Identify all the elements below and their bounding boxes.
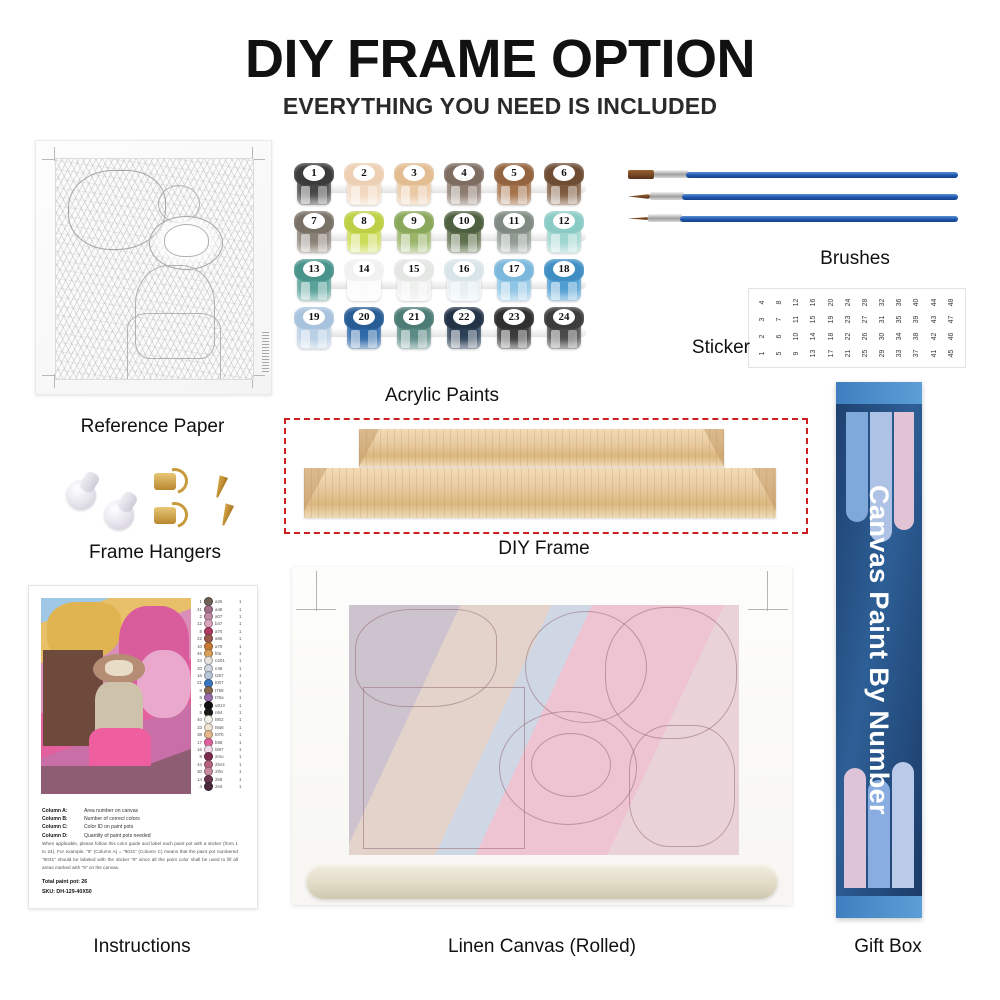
sticker-number: 39 bbox=[909, 311, 926, 328]
legend-quantity: 1 bbox=[239, 621, 245, 626]
paint-pot: 19 bbox=[294, 307, 334, 351]
legend-row: 82mu1 bbox=[191, 753, 249, 760]
paint-pot: 18 bbox=[544, 259, 584, 303]
legend-color-id: 2thv bbox=[215, 769, 237, 774]
legend-color-id: a79 bbox=[215, 644, 237, 649]
sticker-number: 13 bbox=[806, 345, 823, 362]
screw-icon bbox=[219, 503, 234, 527]
legend-area-number: 44 bbox=[191, 762, 202, 767]
legend-row: 24n2011 bbox=[191, 657, 249, 664]
paint-pot-number: 8 bbox=[353, 213, 375, 229]
sticker-number: 38 bbox=[909, 328, 926, 345]
legend-area-number: 17 bbox=[191, 740, 202, 745]
legend-color-id: a26 bbox=[215, 599, 237, 604]
paint-pot-number: 1 bbox=[303, 165, 325, 181]
reference-paper-caption: Reference Paper bbox=[35, 416, 270, 438]
paint-pot: 13 bbox=[294, 259, 334, 303]
legend-row: 20n481 bbox=[191, 665, 249, 672]
legend-quantity: 1 bbox=[239, 607, 245, 612]
sticker-number: 41 bbox=[926, 345, 943, 362]
legend-row: 302thv1 bbox=[191, 768, 249, 775]
diy-frame-caption: DIY Frame bbox=[284, 538, 804, 560]
instructions-sheet: 1a26141a4812a07112b4718a70122a86110a7914… bbox=[28, 585, 258, 909]
sticker-number: 4 bbox=[754, 294, 771, 311]
instructions-sku: SKU: DH-129-40X50 bbox=[42, 889, 92, 895]
sticker-number: 11 bbox=[788, 311, 805, 328]
wall-plug-icon bbox=[104, 500, 134, 530]
paint-pot-strip bbox=[298, 280, 586, 288]
legend-row: 1a261 bbox=[191, 598, 249, 605]
paint-pot: 12 bbox=[544, 211, 584, 255]
legend-color-id: b58 bbox=[215, 740, 237, 745]
instructions-column-line: Column B:Number of correct colors bbox=[42, 816, 242, 822]
paint-pot: 20 bbox=[344, 307, 384, 351]
legend-row: 142b81 bbox=[191, 775, 249, 782]
instructions-artwork bbox=[41, 598, 191, 794]
paint-pot-number: 15 bbox=[403, 261, 425, 277]
gift-box-side bbox=[922, 389, 940, 911]
legend-quantity: 1 bbox=[239, 651, 245, 656]
legend-row: 442bv31 bbox=[191, 761, 249, 768]
legend-area-number: 6 bbox=[191, 695, 202, 700]
sticker-number: 28 bbox=[857, 294, 874, 311]
sticker-number: 6 bbox=[771, 328, 788, 345]
legend-row: 41a481 bbox=[191, 605, 249, 612]
paint-pot: 11 bbox=[494, 211, 534, 255]
sticker-number: 15 bbox=[806, 311, 823, 328]
legend-row: 10a791 bbox=[191, 642, 249, 649]
legend-area-number: 16 bbox=[191, 747, 202, 752]
brush bbox=[628, 214, 958, 223]
brush-ferrule bbox=[654, 170, 688, 178]
sticker-number: 34 bbox=[891, 328, 908, 345]
instructions-column-key-label: Column A: bbox=[42, 808, 84, 814]
sticker-number: 44 bbox=[926, 294, 943, 311]
legend-row: 17b581 bbox=[191, 738, 249, 745]
legend-area-number: 41 bbox=[191, 607, 202, 612]
legend-quantity: 1 bbox=[239, 629, 245, 634]
legend-color-id: 2bv3 bbox=[215, 762, 237, 767]
paint-pot: 3 bbox=[394, 163, 434, 207]
legend-color-id: a48 bbox=[215, 607, 237, 612]
legend-row: 16t8971 bbox=[191, 746, 249, 753]
paint-pot: 9 bbox=[394, 211, 434, 255]
legend-quantity: 1 bbox=[239, 740, 245, 745]
paint-pot-number: 9 bbox=[403, 213, 425, 229]
legend-quantity: 1 bbox=[239, 762, 245, 767]
legend-color-id: t758 bbox=[215, 688, 237, 693]
sticker-number: 25 bbox=[857, 345, 874, 362]
instructions-column-key-label: Column C: bbox=[42, 824, 84, 830]
brush-ferrule bbox=[650, 192, 684, 200]
linen-canvas-caption: Linen Canvas (Rolled) bbox=[292, 936, 792, 958]
sticker-number: 40 bbox=[909, 294, 926, 311]
sticker-number: 32 bbox=[874, 294, 891, 311]
page-title: DIY FRAME OPTION bbox=[0, 28, 1000, 90]
paint-pot-number: 24 bbox=[553, 309, 575, 325]
paint-pot-row: 123456 bbox=[292, 163, 592, 209]
legend-color-id: n201 bbox=[215, 658, 237, 663]
legend-area-number: 46 bbox=[191, 651, 202, 656]
legend-area-number: 30 bbox=[191, 769, 202, 774]
paint-pot-number: 14 bbox=[353, 261, 375, 277]
frame-hangers-group bbox=[60, 462, 250, 534]
legend-area-number: 38 bbox=[191, 732, 202, 737]
legend-color-id: 2b8 bbox=[215, 777, 237, 782]
legend-quantity: 1 bbox=[239, 703, 245, 708]
sticker-number: 36 bbox=[891, 294, 908, 311]
legend-quantity: 1 bbox=[239, 717, 245, 722]
legend-row: 22a861 bbox=[191, 635, 249, 642]
linen-canvas-rolled bbox=[292, 567, 792, 905]
sticker-number: 8 bbox=[771, 294, 788, 311]
paint-pot-number: 12 bbox=[553, 213, 575, 229]
paint-pot-number: 22 bbox=[453, 309, 475, 325]
legend-area-number: 5 bbox=[191, 710, 202, 715]
legend-quantity: 1 bbox=[239, 666, 245, 671]
legend-color-id: t76a bbox=[215, 695, 237, 700]
legend-quantity: 1 bbox=[239, 732, 245, 737]
linen-canvas-artwork bbox=[349, 605, 739, 855]
brush bbox=[628, 170, 958, 179]
legend-quantity: 1 bbox=[239, 680, 245, 685]
legend-area-number: 10 bbox=[191, 644, 202, 649]
paint-pot-number: 10 bbox=[453, 213, 475, 229]
sticker-number: 14 bbox=[806, 328, 823, 345]
paint-pot-strip bbox=[298, 232, 586, 240]
legend-area-number: 14 bbox=[191, 777, 202, 782]
legend-color-id: n64 bbox=[215, 710, 237, 715]
paint-pot: 10 bbox=[444, 211, 484, 255]
acrylic-paints-group: 123456789101112131415161718192021222324 bbox=[292, 163, 592, 355]
paint-pot-number: 18 bbox=[553, 261, 575, 277]
sticker-number: 7 bbox=[771, 311, 788, 328]
brush-handle bbox=[680, 216, 958, 222]
sticker-number: 47 bbox=[943, 311, 960, 328]
brush-bristles bbox=[628, 170, 654, 179]
legend-quantity: 1 bbox=[239, 673, 245, 678]
brushes-caption: Brushes bbox=[760, 248, 950, 270]
paint-pot-number: 16 bbox=[453, 261, 475, 277]
legend-row: 16t2671 bbox=[191, 672, 249, 679]
legend-area-number: 33 bbox=[191, 725, 202, 730]
paint-pot: 8 bbox=[344, 211, 384, 255]
sticker-number: 16 bbox=[806, 294, 823, 311]
legend-area-number: 16 bbox=[191, 673, 202, 678]
paint-pot: 14 bbox=[344, 259, 384, 303]
gift-box-caption: Gift Box bbox=[826, 936, 950, 958]
legend-quantity: 1 bbox=[239, 658, 245, 663]
infographic-stage: DIY FRAME OPTION EVERYTHING YOU NEED IS … bbox=[0, 0, 1000, 1000]
legend-quantity: 1 bbox=[239, 636, 245, 641]
legend-quantity: 1 bbox=[239, 747, 245, 752]
sticker-number: 33 bbox=[891, 345, 908, 362]
instructions-column-desc: Color ID on paint pots bbox=[84, 824, 133, 830]
legend-row: 42e01 bbox=[191, 783, 249, 790]
sticker-number: 48 bbox=[943, 294, 960, 311]
sticker-number: 27 bbox=[857, 311, 874, 328]
legend-color-id: t007 bbox=[215, 680, 237, 685]
gift-box-label: Canvas Paint By Number bbox=[836, 382, 922, 918]
legend-row: 12b471 bbox=[191, 620, 249, 627]
legend-row: 5n641 bbox=[191, 709, 249, 716]
instructions-column-desc: Area number on canvas bbox=[84, 808, 138, 814]
instructions-total-pots: Total paint pot: 26 bbox=[42, 879, 87, 885]
legend-area-number: 20 bbox=[191, 666, 202, 671]
instructions-column-line: Column C:Color ID on paint pots bbox=[42, 824, 242, 830]
paint-pot-number: 3 bbox=[403, 165, 425, 181]
legend-row: 46f0a1 bbox=[191, 650, 249, 657]
sticker-number: 12 bbox=[788, 294, 805, 311]
paint-pot: 7 bbox=[294, 211, 334, 255]
sticker-sheet: 4812162024283236404448371115192327313539… bbox=[748, 288, 966, 368]
paint-pot: 21 bbox=[394, 307, 434, 351]
sticker-number: 2 bbox=[754, 328, 771, 345]
instructions-column-key-label: Column D: bbox=[42, 833, 84, 839]
paint-pot: 1 bbox=[294, 163, 334, 207]
sticker-number: 1 bbox=[754, 345, 771, 362]
instructions-column-line: Column A:Area number on canvas bbox=[42, 808, 242, 814]
sticker-number: 18 bbox=[823, 328, 840, 345]
legend-quantity: 1 bbox=[239, 688, 245, 693]
instructions-column-key: Column A:Area number on canvasColumn B:N… bbox=[42, 808, 242, 841]
legend-color-id: a07 bbox=[215, 614, 237, 619]
instructions-column-desc: Quantity of paint pots needed bbox=[84, 833, 151, 839]
sticker-caption: Sticker bbox=[640, 337, 750, 359]
legend-row: 7u0131 bbox=[191, 701, 249, 708]
brush-handle bbox=[682, 194, 958, 200]
sticker-number: 9 bbox=[788, 345, 805, 362]
diy-frame-highlight bbox=[284, 418, 808, 534]
legend-quantity: 1 bbox=[239, 710, 245, 715]
legend-color-id: a70 bbox=[215, 629, 237, 634]
legend-area-number: 21 bbox=[191, 680, 202, 685]
instructions-color-legend: 1a26141a4812a07112b4718a70122a86110a7914… bbox=[191, 598, 249, 796]
d-ring-hanger-icon bbox=[154, 468, 188, 492]
sticker-number: 22 bbox=[840, 328, 857, 345]
paint-pot: 22 bbox=[444, 307, 484, 351]
paint-pot-number: 19 bbox=[303, 309, 325, 325]
legend-area-number: 2 bbox=[191, 614, 202, 619]
wall-plug-icon bbox=[66, 480, 96, 510]
frame-hangers-caption: Frame Hangers bbox=[40, 542, 270, 564]
legend-quantity: 1 bbox=[239, 644, 245, 649]
legend-row: 8a701 bbox=[191, 628, 249, 635]
legend-color-id: 2e0 bbox=[215, 784, 237, 789]
legend-area-number: 24 bbox=[191, 658, 202, 663]
screw-icon bbox=[213, 475, 228, 499]
legend-area-number: 8 bbox=[191, 688, 202, 693]
sticker-number: 10 bbox=[788, 328, 805, 345]
gift-box-front: Canvas Paint By Number bbox=[836, 382, 922, 918]
sticker-number: 3 bbox=[754, 311, 771, 328]
brush-handle bbox=[686, 172, 958, 178]
legend-row: 21t0071 bbox=[191, 679, 249, 686]
paint-pot: 6 bbox=[544, 163, 584, 207]
paint-pot: 24 bbox=[544, 307, 584, 351]
gift-box: Canvas Paint By Number bbox=[836, 382, 940, 918]
paint-pot-number: 20 bbox=[353, 309, 375, 325]
legend-row: 33t9a81 bbox=[191, 724, 249, 731]
paint-pot-row: 789101112 bbox=[292, 211, 592, 257]
instructions-column-line: Column D:Quantity of paint pots needed bbox=[42, 833, 242, 839]
paint-pot-number: 13 bbox=[303, 261, 325, 277]
legend-color-id: b47 bbox=[215, 621, 237, 626]
instructions-caption: Instructions bbox=[28, 936, 256, 958]
brush-bristles bbox=[628, 194, 650, 199]
page-subtitle: EVERYTHING YOU NEED IS INCLUDED bbox=[0, 93, 1000, 120]
legend-color-id: t9a8 bbox=[215, 725, 237, 730]
legend-quantity: 1 bbox=[239, 754, 245, 759]
brush bbox=[628, 192, 958, 201]
sticker-number: 19 bbox=[823, 311, 840, 328]
legend-color-id: f0a bbox=[215, 651, 237, 656]
legend-color-id: n48 bbox=[215, 666, 237, 671]
instructions-column-key-label: Column B: bbox=[42, 816, 84, 822]
legend-area-number: 8 bbox=[191, 754, 202, 759]
canvas-roll bbox=[306, 863, 778, 899]
legend-row: 8t7581 bbox=[191, 687, 249, 694]
instructions-column-desc: Number of correct colors bbox=[84, 816, 140, 822]
paint-pot-number: 11 bbox=[503, 213, 525, 229]
brush-ferrule bbox=[648, 214, 682, 222]
sticker-number: 45 bbox=[943, 345, 960, 362]
paint-pot-strip bbox=[298, 184, 586, 192]
legend-color-id: a86 bbox=[215, 636, 237, 641]
legend-row: 6t76a1 bbox=[191, 694, 249, 701]
paint-pot-number: 2 bbox=[353, 165, 375, 181]
legend-area-number: 1 bbox=[191, 599, 202, 604]
legend-color-id: t897 bbox=[215, 747, 237, 752]
legend-quantity: 1 bbox=[239, 769, 245, 774]
legend-area-number: 22 bbox=[191, 636, 202, 641]
legend-color-id: t07b bbox=[215, 732, 237, 737]
paint-pot-number: 6 bbox=[553, 165, 575, 181]
legend-quantity: 1 bbox=[239, 784, 245, 789]
sticker-number: 30 bbox=[874, 328, 891, 345]
paint-pot: 2 bbox=[344, 163, 384, 207]
legend-color-swatch bbox=[204, 782, 213, 791]
legend-area-number: 12 bbox=[191, 621, 202, 626]
legend-area-number: 40 bbox=[191, 717, 202, 722]
sticker-number: 24 bbox=[840, 294, 857, 311]
sticker-number: 23 bbox=[840, 311, 857, 328]
reference-paper-sidecode bbox=[262, 330, 269, 372]
sticker-number: 21 bbox=[840, 345, 857, 362]
paint-pot-strip bbox=[298, 328, 586, 336]
sticker-number: 29 bbox=[874, 345, 891, 362]
sticker-number: 26 bbox=[857, 328, 874, 345]
paint-pot-number: 21 bbox=[403, 309, 425, 325]
instructions-paragraph: When applicable, please follow this colo… bbox=[42, 840, 238, 872]
legend-quantity: 1 bbox=[239, 695, 245, 700]
legend-area-number: 8 bbox=[191, 629, 202, 634]
sticker-number: 5 bbox=[771, 345, 788, 362]
paint-pot: 23 bbox=[494, 307, 534, 351]
paint-pot: 16 bbox=[444, 259, 484, 303]
paint-pot-row: 131415161718 bbox=[292, 259, 592, 305]
legend-color-id: t902 bbox=[215, 717, 237, 722]
legend-color-id: t267 bbox=[215, 673, 237, 678]
legend-quantity: 1 bbox=[239, 777, 245, 782]
legend-row: 40t9021 bbox=[191, 716, 249, 723]
paint-pot-number: 23 bbox=[503, 309, 525, 325]
paint-pot-number: 4 bbox=[453, 165, 475, 181]
legend-area-number: 4 bbox=[191, 784, 202, 789]
sticker-number: 46 bbox=[943, 328, 960, 345]
legend-area-number: 7 bbox=[191, 703, 202, 708]
reference-paper bbox=[35, 140, 272, 395]
sticker-number: 43 bbox=[926, 311, 943, 328]
brushes-group bbox=[628, 170, 958, 250]
sticker-number: 20 bbox=[823, 294, 840, 311]
paint-pot-row: 192021222324 bbox=[292, 307, 592, 353]
reference-paper-lineart bbox=[55, 158, 254, 380]
brush-bristles bbox=[628, 217, 648, 220]
sticker-number: 17 bbox=[823, 345, 840, 362]
sticker-number: 31 bbox=[874, 311, 891, 328]
paint-pot: 4 bbox=[444, 163, 484, 207]
legend-row: 2a071 bbox=[191, 613, 249, 620]
legend-color-id: u013 bbox=[215, 703, 237, 708]
acrylic-paints-caption: Acrylic Paints bbox=[292, 385, 592, 407]
sticker-number: 35 bbox=[891, 311, 908, 328]
legend-quantity: 1 bbox=[239, 599, 245, 604]
legend-quantity: 1 bbox=[239, 725, 245, 730]
legend-quantity: 1 bbox=[239, 614, 245, 619]
d-ring-hanger-icon bbox=[154, 502, 188, 526]
paint-pot: 15 bbox=[394, 259, 434, 303]
paint-pot-number: 17 bbox=[503, 261, 525, 277]
paint-pot-number: 7 bbox=[303, 213, 325, 229]
paint-pot: 17 bbox=[494, 259, 534, 303]
sticker-number: 42 bbox=[926, 328, 943, 345]
paint-pot-number: 5 bbox=[503, 165, 525, 181]
paint-pot: 5 bbox=[494, 163, 534, 207]
legend-color-id: 2mu bbox=[215, 754, 237, 759]
sticker-number: 37 bbox=[909, 345, 926, 362]
legend-row: 38t07b1 bbox=[191, 731, 249, 738]
